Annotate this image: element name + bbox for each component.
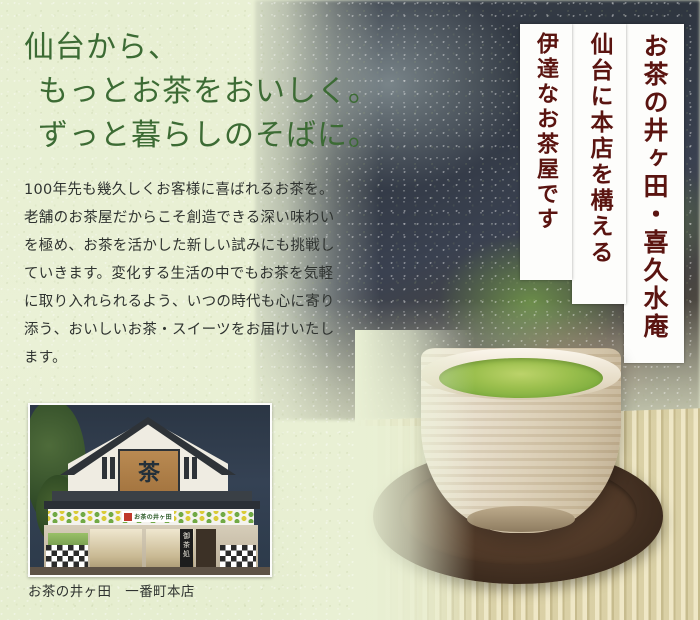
photo-roof-slat: [192, 457, 197, 479]
logo-text: お茶の井ヶ田: [134, 512, 172, 521]
body-paragraph: 100年先も幾久しくお客様に喜ばれるお茶を。 老舗のお茶屋だからこそ創造できる深…: [24, 176, 384, 372]
facade-sign-character: 茶: [138, 462, 160, 484]
body-line: 老舗のお茶屋だからこそ創造できる深い味わい: [24, 204, 384, 232]
photo-roof-slat: [110, 457, 115, 479]
body-line: に取り入れられるよう、いつの時代も心に寄り: [24, 288, 384, 316]
body-line: ます。: [24, 344, 384, 372]
body-line: を極め、お茶を活かした新しい試みにも挑戦し: [24, 232, 384, 260]
logo-mark-icon: [124, 513, 132, 521]
vertical-panel-headquarters: 仙台に本店を構える: [572, 24, 626, 304]
storefront-photo: 茶 お茶の井ヶ田 御茶処: [28, 403, 272, 577]
promo-banner: 仙台から、 もっとお茶をおいしく。 ずっと暮らしのそばに。 100年先も幾久しく…: [0, 0, 700, 620]
tea-cup-photo: [355, 330, 700, 620]
headline-line-2: もっとお茶をおいしく。: [24, 70, 424, 114]
body-line: 100年先も幾久しくお客様に喜ばれるお茶を。: [24, 176, 384, 204]
headline-line-1: 仙台から、: [24, 26, 424, 70]
headline-line-3: ずっと暮らしのそばに。: [24, 114, 424, 158]
photo-facade-sign: 茶: [118, 449, 180, 497]
photo-roof-slat: [184, 457, 189, 479]
storefront-photo-caption: お茶の井ヶ田 一番町本店: [28, 580, 195, 600]
vertical-panel-tagline: 伊達なお茶屋です: [520, 24, 572, 280]
photo-ground: [30, 567, 270, 575]
body-line: ていきます。変化する生活の中でもお茶を気軽: [24, 260, 384, 288]
headline: 仙台から、 もっとお茶をおいしく。 ずっと暮らしのそばに。: [24, 26, 424, 158]
tea-scene-fade: [355, 330, 475, 620]
body-line: 添う、おいしいお茶・スイーツをお届けいたし: [24, 316, 384, 344]
photo-roof-slat: [102, 457, 107, 479]
ceramic-cup-foot: [467, 506, 575, 532]
photo-vertical-banner: 御茶処: [180, 529, 193, 571]
photo-shop-logo: お茶の井ヶ田: [122, 511, 174, 522]
vertical-panel-company-name: お茶の井ヶ田・喜久水庵は: [624, 24, 684, 363]
banner-text: 御茶処: [180, 529, 193, 559]
photo-eave-lower: [44, 501, 260, 509]
